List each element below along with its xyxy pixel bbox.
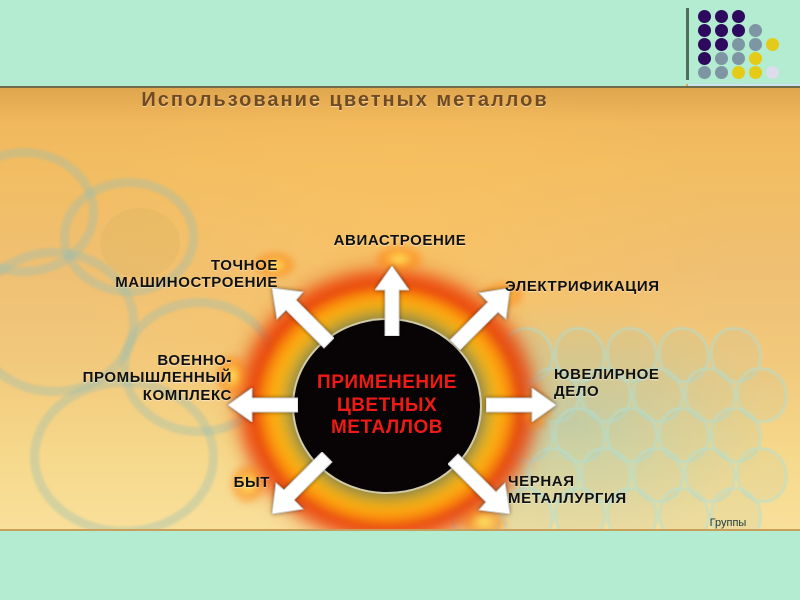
logo-dot	[698, 24, 711, 37]
groups-caption: Группы цветных металлов	[660, 516, 796, 531]
logo-dot	[766, 24, 779, 37]
label-electrification: ЭЛЕКТРИФИКАЦИЯ	[505, 278, 735, 295]
logo-dot	[732, 24, 745, 37]
logo-dot	[766, 52, 779, 65]
label-ferrous-metallurgy: ЧЕРНАЯ МЕТАЛЛУРГИЯ	[508, 473, 728, 508]
label-military-industrial: ВОЕННО- ПРОМЫШЛЕННЫЙ КОМПЛЕКС	[20, 352, 232, 404]
logo-dot	[698, 10, 711, 23]
slide-content-panel: ПРИМЕНЕНИЕ ЦВЕТНЫХ МЕТАЛЛОВ АВИАСТРОЕНИЕ…	[0, 86, 800, 531]
logo-dot	[749, 10, 762, 23]
center-line-3: МЕТАЛЛОВ	[331, 417, 443, 439]
logo-dot	[732, 52, 745, 65]
logo-dot	[783, 66, 796, 79]
logo-dot	[715, 10, 728, 23]
logo-dot	[783, 52, 796, 65]
logo-dot	[732, 66, 745, 79]
logo-dot	[783, 10, 796, 23]
logo-dot	[715, 66, 728, 79]
logo-dot	[732, 10, 745, 23]
logo-vertical-bar	[686, 8, 689, 80]
slide-title: Использование цветных металлов	[0, 89, 690, 112]
logo-dot	[698, 52, 711, 65]
logo-dot	[749, 52, 762, 65]
label-household: БЫТ	[150, 474, 270, 491]
logo-dot	[749, 24, 762, 37]
center-line-1: ПРИМЕНЕНИЕ	[317, 372, 457, 394]
dot-matrix-logo	[686, 4, 798, 82]
logo-dot	[766, 10, 779, 23]
logo-dot	[766, 38, 779, 51]
label-jewelry: ЮВЕЛИРНОЕ ДЕЛО	[554, 366, 754, 401]
logo-dot-grid	[698, 10, 800, 80]
label-aviation: АВИАСТРОЕНИЕ	[310, 232, 490, 249]
logo-dot	[715, 52, 728, 65]
logo-dot	[698, 38, 711, 51]
logo-dot	[766, 66, 779, 79]
logo-dot	[749, 38, 762, 51]
logo-dot	[715, 38, 728, 51]
center-line-2: ЦВЕТНЫХ	[337, 395, 437, 417]
logo-dot	[715, 24, 728, 37]
label-precision-machinery: ТОЧНОЕ МАШИНОСТРОЕНИЕ	[38, 257, 278, 292]
logo-dot	[783, 24, 796, 37]
logo-dot	[698, 66, 711, 79]
logo-dot	[749, 66, 762, 79]
logo-dot	[783, 38, 796, 51]
logo-dot	[732, 38, 745, 51]
